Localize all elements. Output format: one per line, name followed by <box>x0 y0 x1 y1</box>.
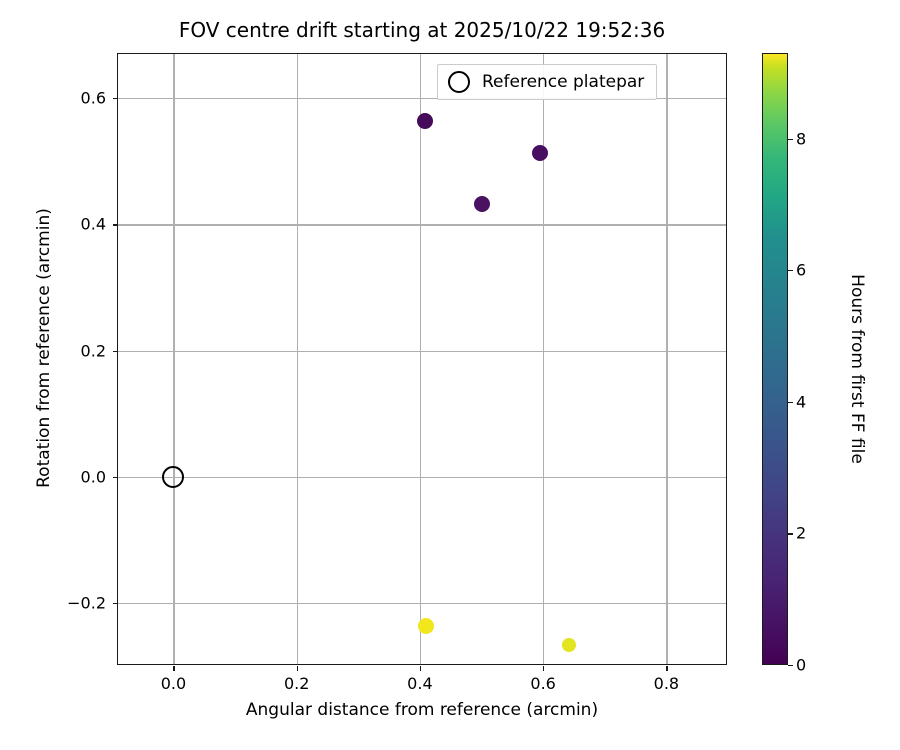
colorbar-tick <box>788 402 793 403</box>
chart-title: FOV centre drift starting at 2025/10/22 … <box>117 18 727 42</box>
y-tick-label: 0.0 <box>81 467 106 486</box>
x-tick-label: 0.4 <box>407 674 432 693</box>
legend-label: Reference platepar <box>482 72 644 92</box>
x-tick-label: 0.6 <box>530 674 555 693</box>
y-gridline <box>118 477 726 478</box>
matplotlib-figure: FOV centre drift starting at 2025/10/22 … <box>0 0 900 750</box>
y-tick <box>113 477 118 478</box>
y-gridline <box>118 603 726 604</box>
x-tick <box>666 666 667 671</box>
reference-platepar-marker-icon <box>448 71 470 93</box>
colorbar-tick-label: 8 <box>796 129 806 148</box>
y-tick-label: 0.2 <box>81 341 106 360</box>
y-tick <box>113 98 118 99</box>
x-gridline <box>666 54 667 664</box>
y-tick <box>113 351 118 352</box>
plot-axes: 0.00.20.40.60.8−0.20.00.20.40.6 <box>117 53 727 665</box>
y-tick <box>113 603 118 604</box>
y-tick-label: −0.2 <box>67 593 106 612</box>
x-tick-label: 0.2 <box>284 674 309 693</box>
y-tick-label: 0.4 <box>81 215 106 234</box>
colorbar-tick <box>788 270 793 271</box>
colorbar-tick-label: 4 <box>796 392 806 411</box>
y-tick <box>113 224 118 225</box>
x-tick <box>297 666 298 671</box>
x-tick <box>543 666 544 671</box>
colorbar-label: Hours from first FF file <box>847 63 867 675</box>
scatter-point <box>474 196 490 212</box>
x-gridline <box>420 54 421 664</box>
colorbar-tick-label: 6 <box>796 261 806 280</box>
y-tick-label: 0.6 <box>81 89 106 108</box>
x-gridline <box>297 54 298 664</box>
colorbar-gradient <box>762 53 788 665</box>
colorbar-tick-label: 0 <box>796 656 806 675</box>
colorbar-tick-label: 2 <box>796 524 806 543</box>
x-tick <box>173 666 174 671</box>
x-tick-label: 0.8 <box>654 674 679 693</box>
x-gridline <box>173 54 174 664</box>
scatter-point <box>418 618 434 634</box>
legend: Reference platepar <box>437 64 657 100</box>
reference-platepar-point <box>162 466 184 488</box>
y-gridline <box>118 224 726 225</box>
scatter-point <box>562 638 576 652</box>
x-tick-label: 0.0 <box>161 674 186 693</box>
y-gridline <box>118 351 726 352</box>
scatter-point <box>532 145 548 161</box>
scatter-point <box>417 113 433 129</box>
x-tick <box>420 666 421 671</box>
colorbar-tick <box>788 665 793 666</box>
y-axis-label: Rotation from reference (arcmin) <box>34 42 54 654</box>
colorbar-tick <box>788 533 793 534</box>
colorbar: 02468 <box>762 53 788 665</box>
colorbar-tick <box>788 139 793 140</box>
x-axis-label: Angular distance from reference (arcmin) <box>117 700 727 720</box>
